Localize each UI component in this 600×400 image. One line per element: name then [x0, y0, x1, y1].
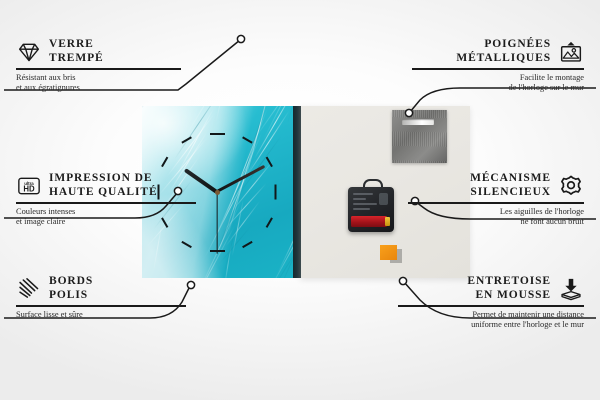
feature-title: MÉCANISME — [470, 172, 551, 186]
feature-desc-line2: de l'horloge sur le mur — [412, 83, 584, 93]
feature-desc-line1: Permet de maintenir une distance — [398, 310, 584, 320]
connector-node — [187, 281, 194, 288]
feature-title: ENTRETOISE — [467, 275, 551, 289]
picture-hanger-icon — [558, 39, 584, 65]
feature-divider — [412, 68, 584, 70]
feature-title-2: MÉTALLIQUES — [456, 52, 551, 66]
connector-node — [237, 35, 244, 42]
feature-title: BORDS — [49, 275, 93, 289]
feature-verre-trempe: VERRE TREMPÉ Résistant aux bris et aux é… — [16, 38, 181, 94]
feature-poignees-metalliques: POIGNÉES MÉTALLIQUES Facilite le montage… — [412, 38, 584, 94]
feature-entretoise-en-mousse: ENTRETOISE EN MOUSSE Permet de maintenir… — [398, 275, 584, 331]
feature-desc-line1: Couleurs intenses — [16, 207, 196, 217]
feature-desc: Couleurs intenses et image claire — [16, 207, 196, 227]
infographic-canvas: VERRE TREMPÉ Résistant aux bris et aux é… — [0, 0, 600, 400]
feature-mecanisme-silencieux: MÉCANISME SILENCIEUX Les aiguilles de l'… — [408, 172, 584, 228]
foam-spacer-icon — [558, 276, 584, 302]
feature-desc-line2: uniforme entre l'horloge et le mur — [398, 320, 584, 330]
ultra-hd-icon: ultra HD — [16, 173, 42, 199]
feature-desc: Facilite le montage de l'horloge sur le … — [412, 73, 584, 93]
feature-title: POIGNÉES — [456, 38, 551, 52]
feature-desc: Surface lisse et sûre — [16, 310, 186, 320]
feature-bords-polis: BORDS POLIS Surface lisse et sûre — [16, 275, 186, 320]
feature-divider — [398, 305, 584, 307]
feature-desc-line1: Les aiguilles de l'horloge — [408, 207, 584, 217]
feature-desc: Les aiguilles de l'horloge ne font aucun… — [408, 207, 584, 227]
feature-title-2: TREMPÉ — [49, 52, 104, 66]
svg-text:HD: HD — [23, 184, 35, 193]
feature-title-2: POLIS — [49, 289, 93, 303]
feature-impression-haute-qualite: ultra HD IMPRESSION DE HAUTE QUALITÉ Cou… — [16, 172, 196, 228]
feature-divider — [16, 68, 181, 70]
feature-desc-line2: et image claire — [16, 217, 196, 227]
feature-divider — [16, 305, 186, 307]
feature-divider — [16, 202, 196, 204]
gear-icon — [558, 173, 584, 199]
feature-desc-line1: Résistant aux bris — [16, 73, 181, 83]
feature-title-2: EN MOUSSE — [467, 289, 551, 303]
feature-desc-line2: et aux égratignures — [16, 83, 181, 93]
feature-title-2: HAUTE QUALITÉ — [49, 186, 158, 200]
feature-title-2: SILENCIEUX — [470, 186, 551, 200]
polished-edge-icon — [16, 276, 42, 302]
feature-desc-line1: Surface lisse et sûre — [16, 310, 186, 320]
connector-node — [405, 109, 412, 116]
feature-desc: Résistant aux bris et aux égratignures — [16, 73, 181, 93]
feature-desc: Permet de maintenir une distance uniform… — [398, 310, 584, 330]
feature-desc-line2: ne font aucun bruit — [408, 217, 584, 227]
feature-title: IMPRESSION DE — [49, 172, 158, 186]
feature-divider — [408, 202, 584, 204]
feature-title: VERRE — [49, 38, 104, 52]
diamond-icon — [16, 39, 42, 65]
feature-desc-line1: Facilite le montage — [412, 73, 584, 83]
